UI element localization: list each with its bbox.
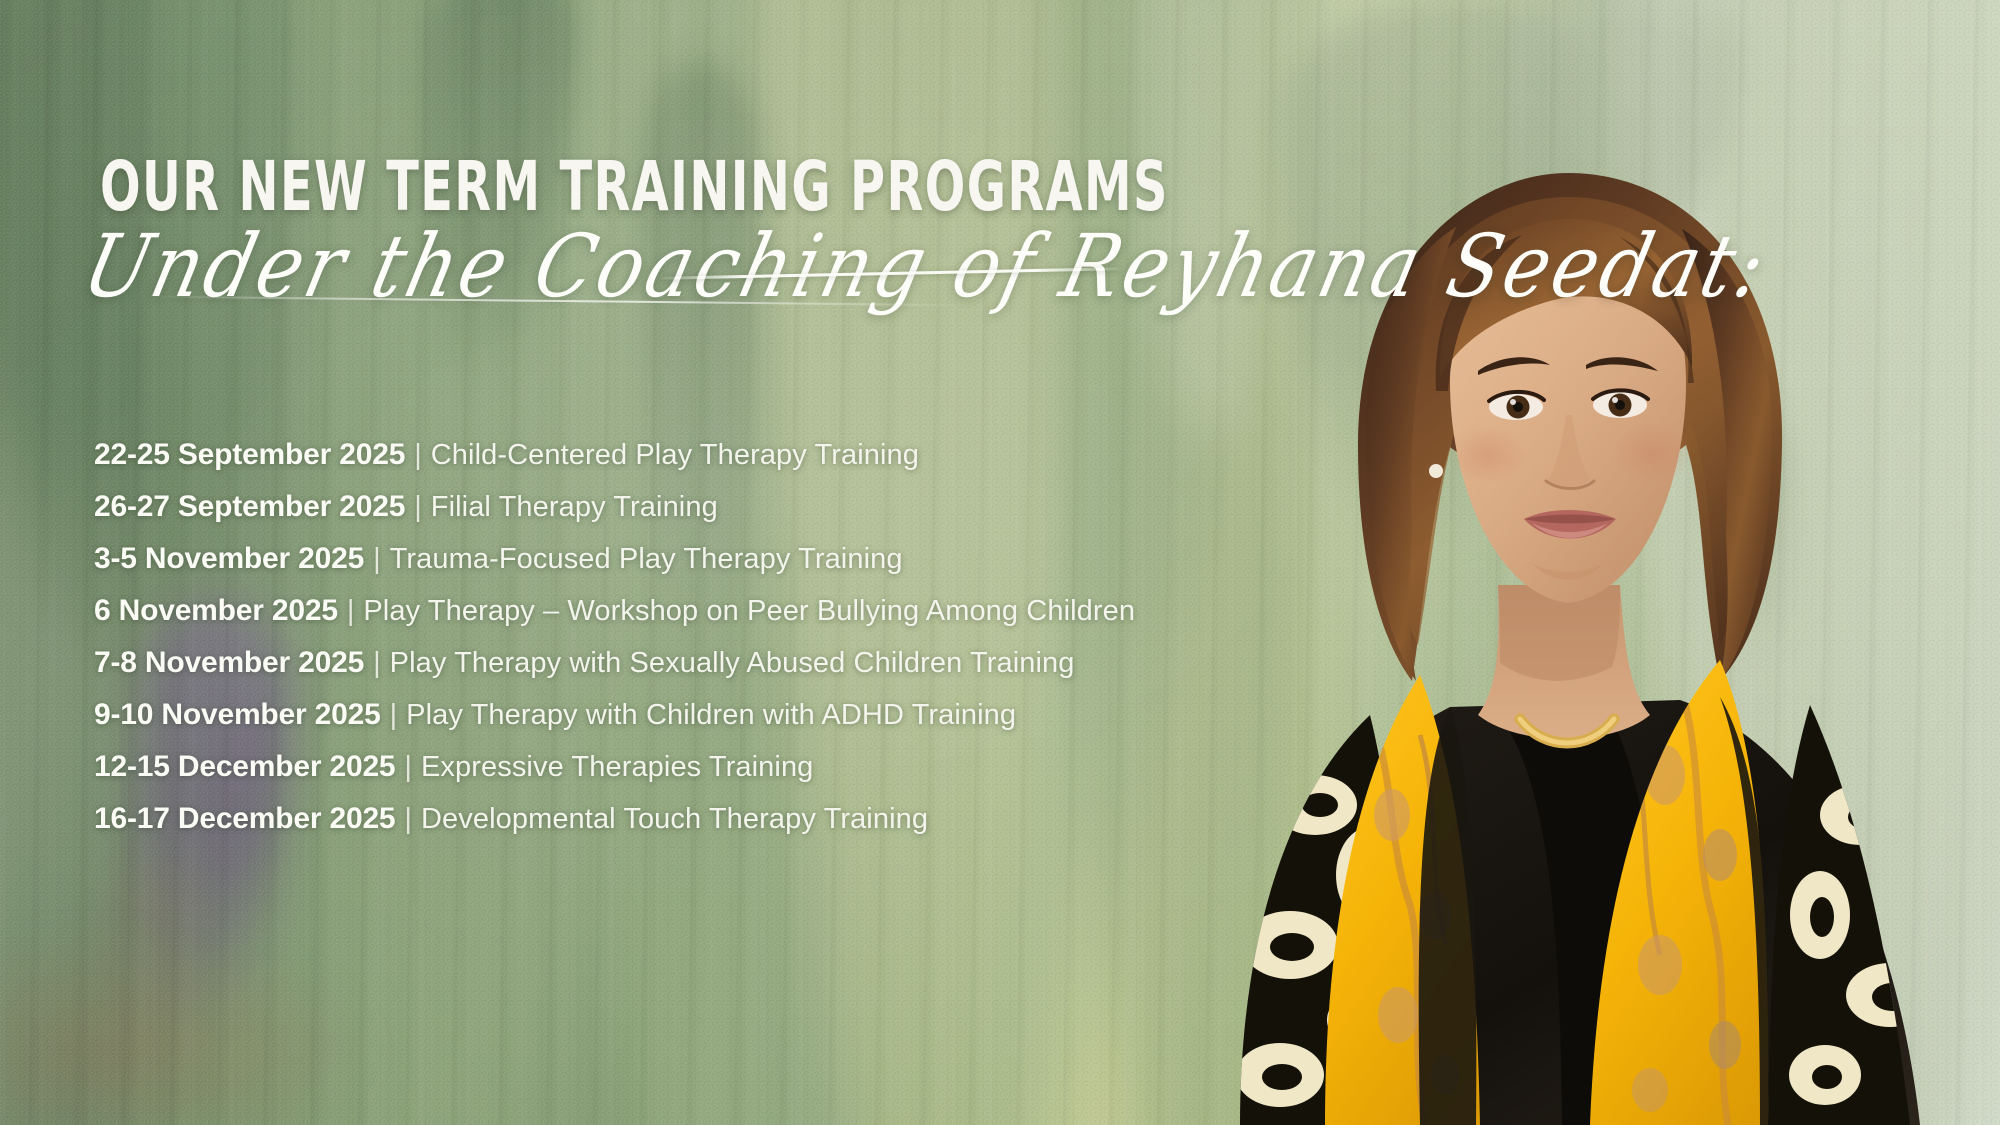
schedule-separator: | bbox=[390, 701, 398, 730]
list-item: 9-10 November 2025|Play Therapy with Chi… bbox=[94, 700, 1274, 730]
schedule-separator: | bbox=[404, 753, 412, 782]
list-item: 6 November 2025|Play Therapy – Workshop … bbox=[94, 596, 1274, 626]
schedule-title: Play Therapy – Workshop on Peer Bullying… bbox=[363, 595, 1135, 627]
list-item: 26-27 September 2025|Filial Therapy Trai… bbox=[94, 492, 1274, 522]
schedule-title: Developmental Touch Therapy Training bbox=[421, 803, 928, 835]
training-programs-banner: OUR NEW TERM TRAINING PROGRAMS Under the… bbox=[0, 0, 2000, 1125]
schedule-date: 26-27 September 2025 bbox=[94, 490, 405, 523]
list-item: 16-17 December 2025|Developmental Touch … bbox=[94, 804, 1274, 834]
schedule-title: Play Therapy with Children with ADHD Tra… bbox=[406, 699, 1016, 731]
schedule-separator: | bbox=[404, 805, 412, 834]
list-item: 12-15 December 2025|Expressive Therapies… bbox=[94, 752, 1274, 782]
schedule-separator: | bbox=[414, 493, 422, 522]
schedule-title: Child-Centered Play Therapy Training bbox=[431, 439, 919, 471]
schedule-date: 3-5 November 2025 bbox=[94, 542, 364, 575]
coaching-subtitle: Under the Coaching of Reyhana Seedat: bbox=[75, 215, 1778, 316]
schedule-separator: | bbox=[373, 649, 381, 678]
schedule-separator: | bbox=[414, 441, 422, 470]
schedule-separator: | bbox=[347, 597, 355, 626]
schedule-title: Play Therapy with Sexually Abused Childr… bbox=[390, 647, 1075, 679]
schedule-date: 7-8 November 2025 bbox=[94, 646, 364, 679]
schedule-date: 22-25 September 2025 bbox=[94, 438, 405, 471]
list-item: 7-8 November 2025|Play Therapy with Sexu… bbox=[94, 648, 1274, 678]
schedule-date: 12-15 December 2025 bbox=[94, 750, 395, 783]
schedule-date: 16-17 December 2025 bbox=[94, 802, 395, 835]
schedule-title: Trauma-Focused Play Therapy Training bbox=[390, 543, 903, 575]
training-schedule-list: 22-25 September 2025|Child-Centered Play… bbox=[94, 440, 1274, 856]
list-item: 3-5 November 2025|Trauma-Focused Play Th… bbox=[94, 544, 1274, 574]
list-item: 22-25 September 2025|Child-Centered Play… bbox=[94, 440, 1274, 470]
schedule-title: Expressive Therapies Training bbox=[421, 751, 813, 783]
schedule-date: 9-10 November 2025 bbox=[94, 698, 381, 731]
schedule-date: 6 November 2025 bbox=[94, 594, 338, 627]
schedule-title: Filial Therapy Training bbox=[431, 491, 718, 523]
schedule-separator: | bbox=[373, 545, 381, 574]
